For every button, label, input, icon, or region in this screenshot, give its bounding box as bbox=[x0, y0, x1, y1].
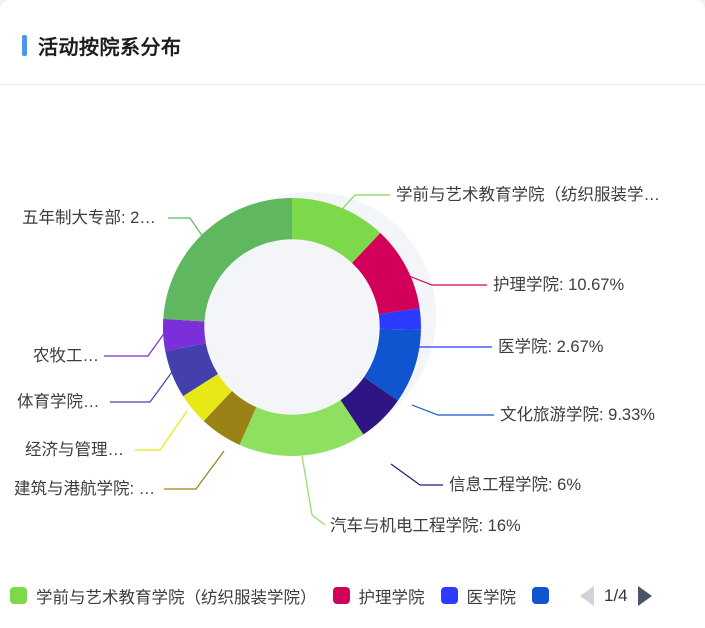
slice-label-tyxy: 体育学院… bbox=[17, 394, 100, 411]
pagination-counter: 1/4 bbox=[604, 586, 628, 606]
legend-item-1[interactable]: 护理学院 bbox=[333, 584, 425, 608]
legend-swatch-icon-2 bbox=[441, 587, 458, 604]
slice-label-jzyghxy: 建筑与港航学院: … bbox=[14, 481, 155, 498]
chevron-right-icon[interactable] bbox=[638, 586, 652, 606]
legend-swatch-icon-0 bbox=[10, 587, 27, 604]
slice-label-xxgcxy: 信息工程学院: 6% bbox=[449, 477, 581, 494]
card-title-text: 活动按院系分布 bbox=[38, 31, 182, 60]
legend-item-3[interactable] bbox=[532, 587, 558, 604]
page-title: 活动按院系分布 bbox=[22, 31, 182, 60]
legend-pagination[interactable]: 1/4 bbox=[580, 586, 652, 606]
slice-label-yxy: 医学院: 2.67% bbox=[498, 339, 603, 356]
legend-label-1: 护理学院 bbox=[359, 584, 425, 608]
donut-slice[interactable] bbox=[163, 198, 292, 321]
legend-item-0[interactable]: 学前与艺术教育学院（纺织服装学院） bbox=[10, 584, 317, 608]
donut-chart: 学前与艺术教育学院（纺织服装学… 护理学院: 10.67% 医学院: 2.67%… bbox=[0, 85, 705, 563]
legend-label-0: 学前与艺术教育学院（纺织服装学院） bbox=[36, 584, 317, 608]
chevron-left-icon[interactable] bbox=[580, 586, 594, 606]
slice-label-whlyxy: 文化旅游学院: 9.33% bbox=[500, 407, 655, 424]
donut-slice[interactable] bbox=[240, 400, 364, 456]
slice-label-xqyysjyxy: 学前与艺术教育学院（纺织服装学… bbox=[396, 187, 660, 204]
legend-label-2: 医学院 bbox=[467, 584, 517, 608]
slice-label-nmgcxy: 农牧工… bbox=[33, 348, 99, 365]
donut-ring[interactable] bbox=[163, 198, 421, 456]
card-header: 活动按院系分布 bbox=[0, 0, 705, 85]
slice-label-wnzdzb: 五年制大专部: 2… bbox=[22, 210, 156, 227]
slice-label-hlxy: 护理学院: 10.67% bbox=[493, 277, 624, 294]
slice-label-jjyglxy: 经济与管理… bbox=[25, 442, 124, 459]
chart-legend[interactable]: 学前与艺术教育学院（纺织服装学院） 护理学院 医学院 1/4 bbox=[0, 563, 705, 628]
legend-item-2[interactable]: 医学院 bbox=[441, 584, 517, 608]
legend-swatch-icon-1 bbox=[333, 587, 350, 604]
chart-card: 活动按院系分布 学前与艺术教 bbox=[0, 0, 705, 628]
donut-svg[interactable] bbox=[163, 198, 421, 456]
slice-label-qcyjdgcxy: 汽车与机电工程学院: 16% bbox=[330, 518, 521, 535]
legend-swatch-icon-3 bbox=[532, 587, 549, 604]
title-accent-bar bbox=[22, 35, 27, 56]
